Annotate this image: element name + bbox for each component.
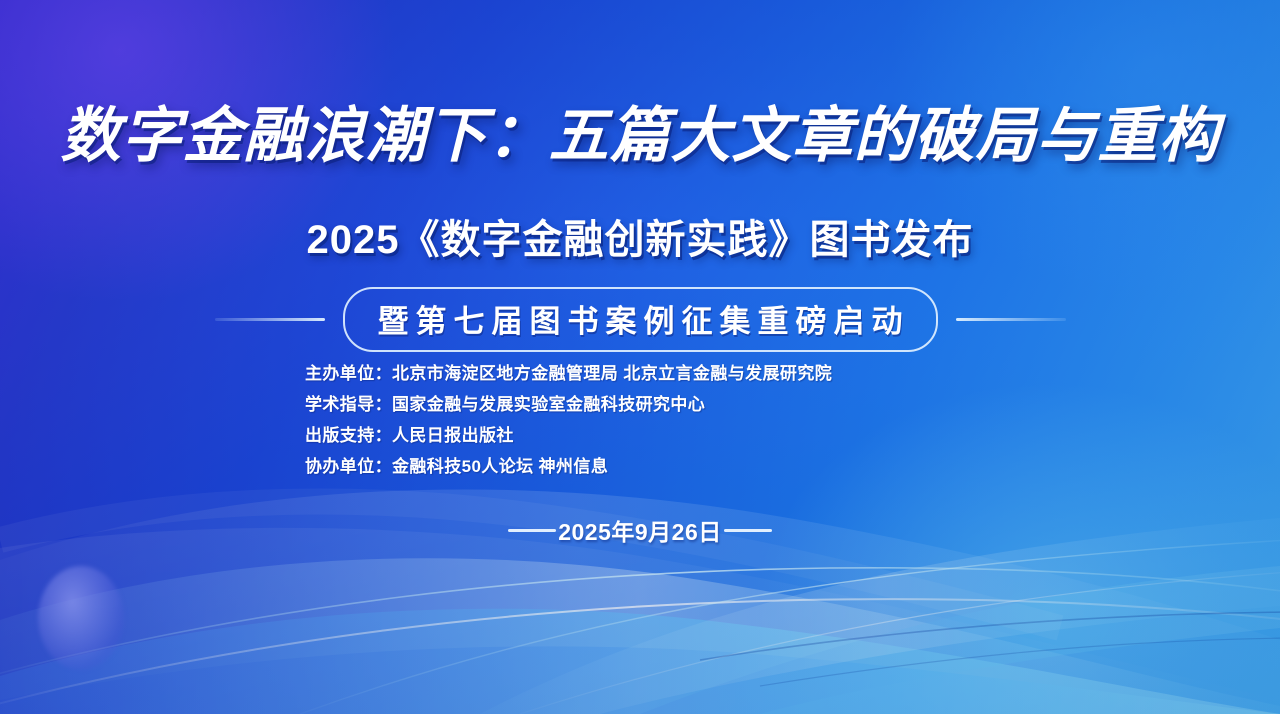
event-date-row: 2025年9月26日	[0, 513, 1280, 547]
date-dash-right	[724, 529, 772, 532]
organization-list: 主办单位：北京市海淀区地方金融管理局 北京立言金融与发展研究院 学术指导：国家金…	[0, 358, 1280, 482]
org-line-co-organizer: 协办单位：金融科技50人论坛 神州信息	[305, 451, 975, 482]
date-dash-left	[508, 529, 556, 532]
org-line-host: 主办单位：北京市海淀区地方金融管理局 北京立言金融与发展研究院	[305, 358, 975, 389]
banner-pill-text: 暨第七届图书案例征集重磅启动	[343, 287, 938, 352]
banner-rule-right	[956, 318, 1066, 321]
main-title: 数字金融浪潮下：五篇大文章的破局与重构	[0, 104, 1280, 169]
poster-canvas: 数字金融浪潮下：五篇大文章的破局与重构 2025《数字金融创新实践》图书发布 暨…	[0, 0, 1280, 714]
org-line-academic-guidance: 学术指导：国家金融与发展实验室金融科技研究中心	[305, 389, 975, 420]
event-date: 2025年9月26日	[556, 513, 724, 547]
sub-title: 2025《数字金融创新实践》图书发布	[0, 207, 1280, 265]
banner-row: 暨第七届图书案例征集重磅启动	[0, 287, 1280, 352]
org-line-publishing-support: 出版支持：人民日报出版社	[305, 420, 975, 451]
banner-rule-left	[215, 318, 325, 321]
poster-content: 数字金融浪潮下：五篇大文章的破局与重构 2025《数字金融创新实践》图书发布 暨…	[0, 0, 1280, 714]
